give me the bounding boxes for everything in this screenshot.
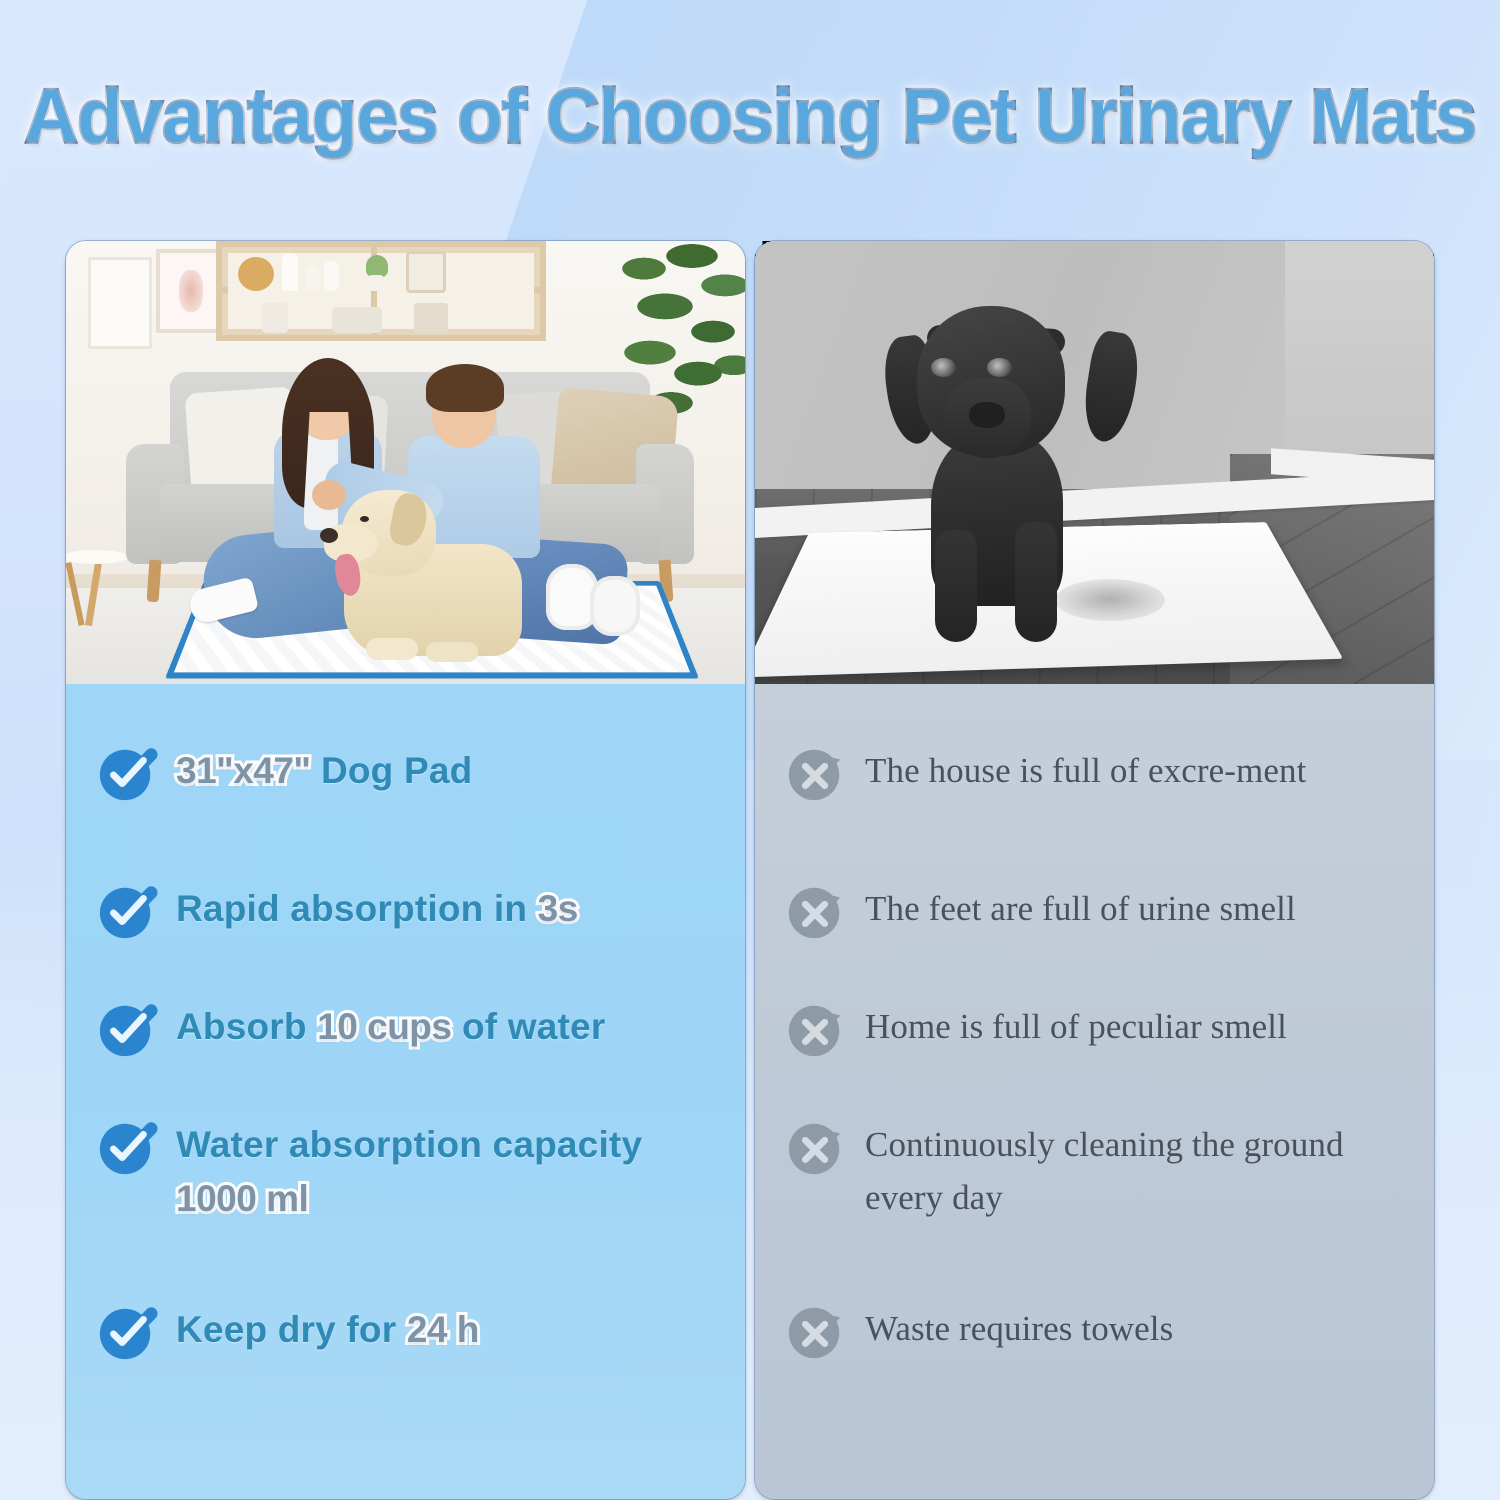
disadvantage-text: The house is full of excre-ment (865, 740, 1408, 797)
cross-icon (785, 880, 847, 942)
title-container: Advantages of Choosing Pet Urinary Mats (0, 78, 1500, 156)
advantage-text: Absorb 10 cups of water (176, 996, 719, 1054)
cross-icon (785, 1300, 847, 1362)
disadvantage-text: Continuously cleaning the ground every d… (865, 1114, 1408, 1224)
advantage-item: Absorb 10 cups of water (96, 996, 719, 1060)
black-labrador-puppy (883, 306, 1133, 636)
check-icon (96, 998, 158, 1060)
advantage-highlight: 10 cups (317, 1006, 451, 1047)
advantages-list: 31"x47" Dog Pad Rapid absorption in 3s (66, 684, 745, 1499)
advantage-highlight: 1000 ml (176, 1178, 308, 1219)
advantage-suffix: Dog Pad (310, 750, 472, 791)
disadvantage-item: Waste requires towels (785, 1298, 1408, 1362)
check-icon (96, 1116, 158, 1178)
comparison-columns: 31"x47" Dog Pad Rapid absorption in 3s (66, 241, 1434, 1499)
advantage-prefix: Keep dry for (176, 1309, 407, 1350)
advantage-item: Water absorption capacity 1000 ml (96, 1114, 719, 1225)
disadvantages-column: The house is full of excre-ment The feet… (755, 241, 1434, 1499)
page-title: Advantages of Choosing Pet Urinary Mats (24, 78, 1476, 156)
advantage-item: Rapid absorption in 3s (96, 878, 719, 942)
advantage-item: 31"x47" Dog Pad (96, 740, 719, 804)
yellow-labrador (334, 480, 532, 666)
check-icon (96, 742, 158, 804)
advantage-text: 31"x47" Dog Pad (176, 740, 719, 798)
advantages-column: 31"x47" Dog Pad Rapid absorption in 3s (66, 241, 745, 1499)
disadvantage-text: The feet are full of urine smell (865, 878, 1408, 935)
cross-icon (785, 742, 847, 804)
advantage-text: Water absorption capacity 1000 ml (176, 1114, 719, 1225)
advantage-text: Rapid absorption in 3s (176, 878, 719, 936)
advantage-highlight: 31"x47" (176, 750, 310, 791)
advantage-prefix: Water absorption capacity (176, 1124, 642, 1165)
disadvantage-item: The feet are full of urine smell (785, 878, 1408, 942)
lifestyle-photo-color (66, 241, 745, 684)
cross-icon (785, 998, 847, 1060)
check-icon (96, 880, 158, 942)
disadvantage-item: Continuously cleaning the ground every d… (785, 1114, 1408, 1224)
puppy-photo-bw (755, 241, 1434, 684)
disadvantage-text: Home is full of peculiar smell (865, 996, 1408, 1053)
wall-frame-icon (88, 257, 152, 349)
advantage-highlight: 3s (538, 888, 578, 929)
infographic-root: Advantages of Choosing Pet Urinary Mats (0, 0, 1500, 1500)
advantage-prefix: Rapid absorption in (176, 888, 538, 929)
advantage-prefix: Absorb (176, 1006, 317, 1047)
disadvantages-list: The house is full of excre-ment The feet… (755, 684, 1434, 1499)
disadvantage-item: The house is full of excre-ment (785, 740, 1408, 804)
advantage-suffix: of water (451, 1006, 605, 1047)
cross-icon (785, 1116, 847, 1178)
advantage-item: Keep dry for 24 h (96, 1299, 719, 1363)
advantage-text: Keep dry for 24 h (176, 1299, 719, 1357)
disadvantage-text: Waste requires towels (865, 1298, 1408, 1355)
check-icon (96, 1301, 158, 1363)
advantage-highlight: 24 h (407, 1309, 479, 1350)
disadvantage-item: Home is full of peculiar smell (785, 996, 1408, 1060)
